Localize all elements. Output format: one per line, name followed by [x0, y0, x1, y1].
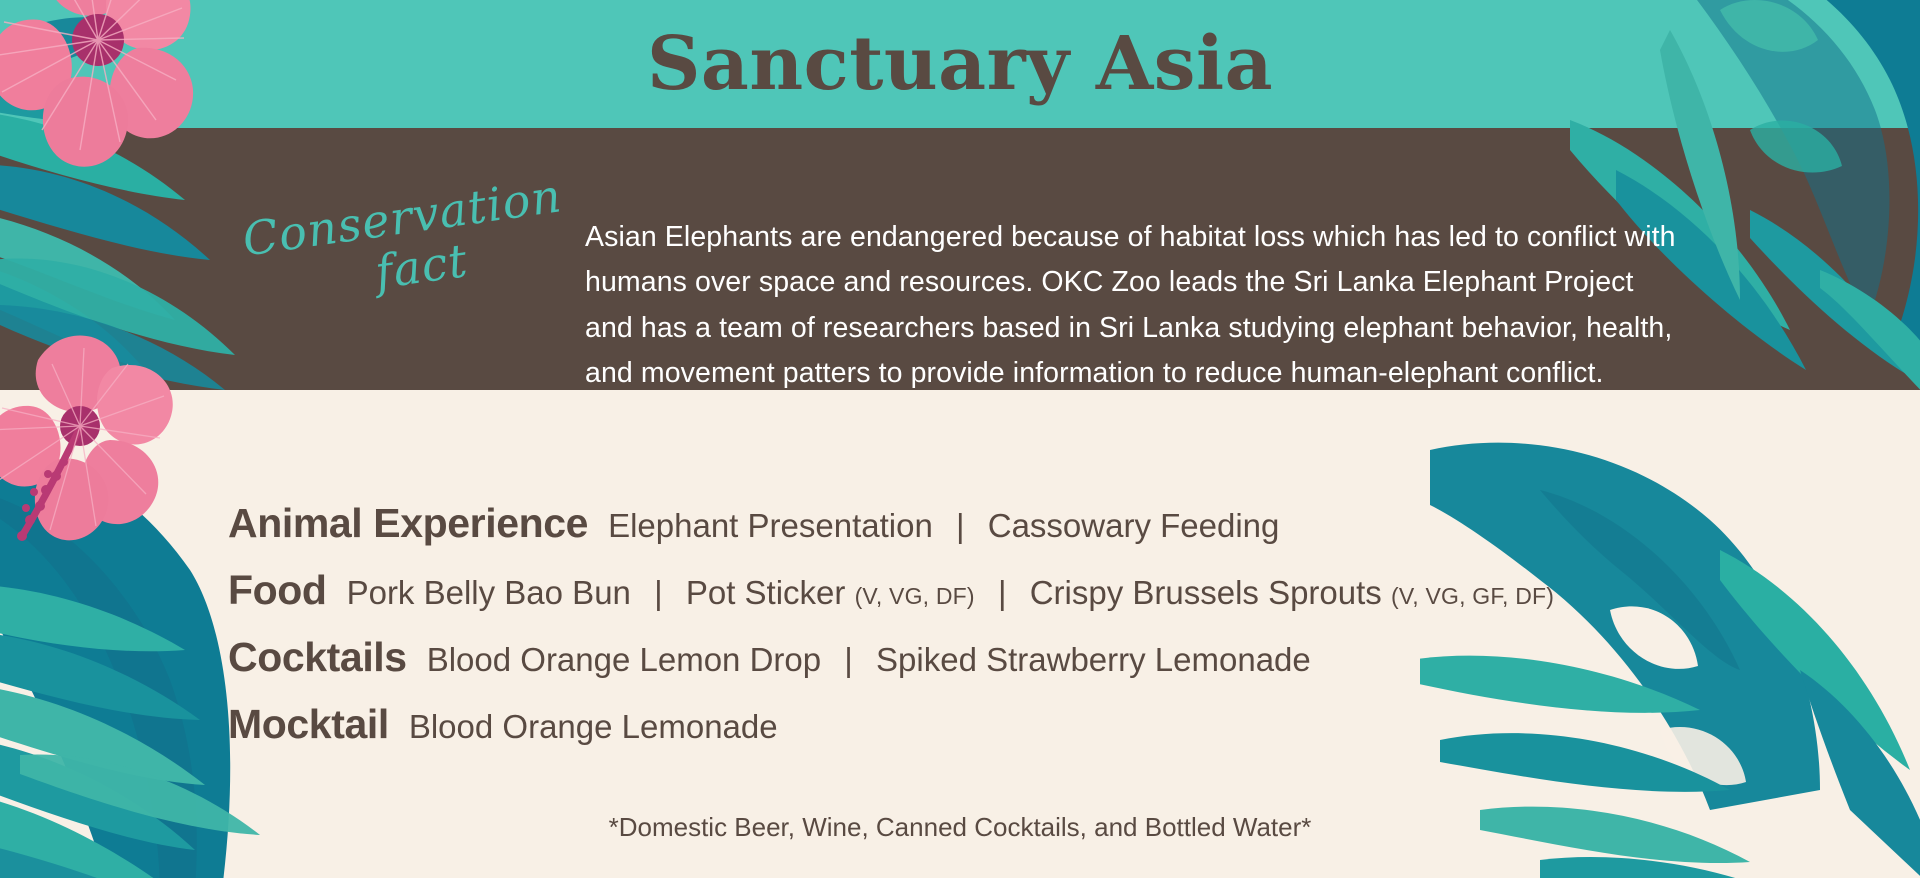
menu-item-diet-tags: (V, VG, GF, DF) — [1391, 583, 1554, 609]
page-title: Sanctuary Asia — [647, 27, 1273, 101]
menu-item-separator: | — [640, 574, 677, 611]
menu-item-separator: | — [942, 507, 979, 544]
menu-item-name: Elephant Presentation — [608, 507, 933, 544]
menu-item-separator: | — [984, 574, 1021, 611]
menu-list: Animal Experience Elephant Presentation … — [228, 500, 1788, 768]
menu-item-diet-tags: (V, VG, DF) — [855, 583, 975, 609]
menu-item-name: Cassowary Feeding — [988, 507, 1280, 544]
menu-row-animal-experience: Animal Experience Elephant Presentation … — [228, 500, 1788, 547]
menu-category-label: Mocktail — [228, 701, 389, 748]
menu-item-name: Pot Sticker — [686, 574, 846, 611]
menu-item-separator: | — [830, 641, 867, 678]
menu-items: Blood Orange Lemonade — [409, 708, 778, 746]
header-title-wrap: Sanctuary Asia — [0, 0, 1920, 128]
menu-items: Elephant Presentation | Cassowary Feedin… — [608, 507, 1279, 545]
menu-items: Blood Orange Lemon Drop | Spiked Strawbe… — [427, 641, 1311, 679]
menu-category-label: Cocktails — [228, 634, 407, 681]
menu-item-name: Crispy Brussels Sprouts — [1030, 574, 1382, 611]
poster-canvas: Sanctuary Asia Conservation fact Asian E… — [0, 0, 1920, 878]
menu-row-mocktail: Mocktail Blood Orange Lemonade — [228, 701, 1788, 748]
menu-item-name: Blood Orange Lemon Drop — [427, 641, 821, 678]
menu-category-label: Food — [228, 567, 327, 614]
menu-category-label: Animal Experience — [228, 500, 588, 547]
menu-item-name: Pork Belly Bao Bun — [347, 574, 631, 611]
menu-item-name: Spiked Strawberry Lemonade — [876, 641, 1311, 678]
menu-row-cocktails: Cocktails Blood Orange Lemon Drop | Spik… — [228, 634, 1788, 681]
menu-item-name: Blood Orange Lemonade — [409, 708, 778, 745]
menu-row-food: Food Pork Belly Bao Bun | Pot Sticker (V… — [228, 567, 1788, 614]
menu-items: Pork Belly Bao Bun | Pot Sticker (V, VG,… — [347, 574, 1555, 612]
menu-footnote: *Domestic Beer, Wine, Canned Cocktails, … — [0, 812, 1920, 843]
conservation-fact-body: Asian Elephants are endangered because o… — [585, 215, 1680, 397]
